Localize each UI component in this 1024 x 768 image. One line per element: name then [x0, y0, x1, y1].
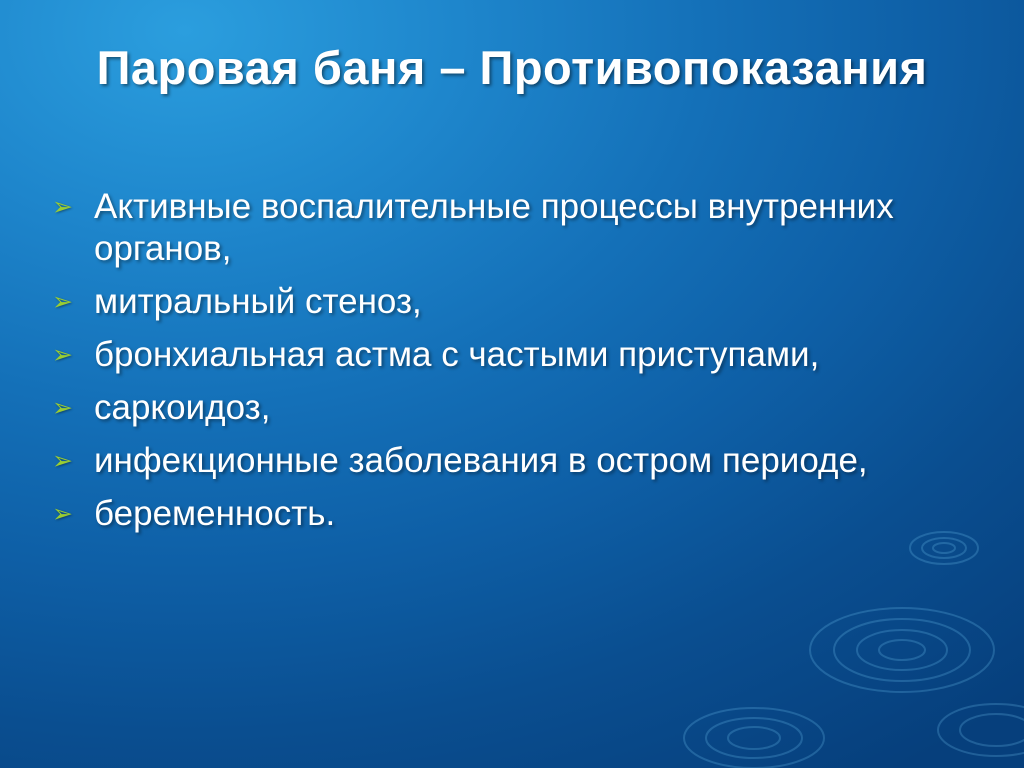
arrowhead-bullet-icon: ➢	[52, 387, 94, 421]
arrowhead-bullet-icon: ➢	[52, 186, 94, 220]
list-item-label: митральный стеноз,	[94, 281, 924, 323]
list-item-label: бронхиальная астма с частыми приступами,	[94, 334, 924, 376]
presentation-slide: Паровая баня – Противопоказания ➢ Активн…	[0, 0, 1024, 768]
arrowhead-bullet-icon: ➢	[52, 493, 94, 527]
list-item-label: инфекционные заболевания в остром период…	[94, 440, 924, 482]
list-item: ➢ митральный стеноз,	[52, 281, 982, 323]
list-item-label: Активные воспалительные процессы внутрен…	[94, 186, 924, 270]
contraindications-list: ➢ Активные воспалительные процессы внутр…	[52, 186, 982, 546]
arrowhead-bullet-icon: ➢	[52, 334, 94, 368]
list-item: ➢ саркоидоз,	[52, 387, 982, 429]
arrowhead-bullet-icon: ➢	[52, 440, 94, 474]
arrowhead-bullet-icon: ➢	[52, 281, 94, 315]
slide-title: Паровая баня – Противопоказания	[0, 38, 1024, 98]
list-item: ➢ инфекционные заболевания в остром пери…	[52, 440, 982, 482]
list-item: ➢ беременность.	[52, 493, 982, 535]
list-item: ➢ Активные воспалительные процессы внутр…	[52, 186, 982, 270]
list-item-label: беременность.	[94, 493, 924, 535]
list-item-label: саркоидоз,	[94, 387, 924, 429]
list-item: ➢ бронхиальная астма с частыми приступам…	[52, 334, 982, 376]
